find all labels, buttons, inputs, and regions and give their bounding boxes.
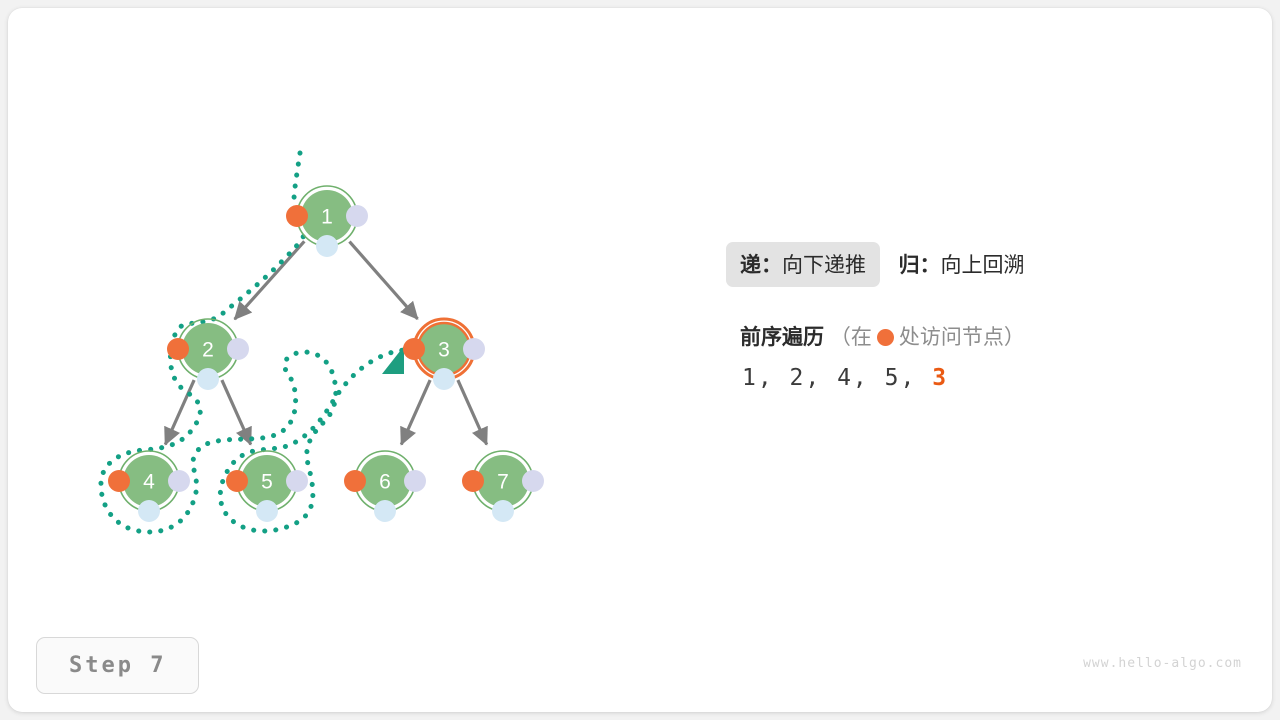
recurse-description: 递：向下递推 bbox=[726, 242, 880, 287]
tree-edge bbox=[165, 380, 194, 444]
node-bottom-dot bbox=[256, 500, 278, 522]
node-bottom-dot bbox=[433, 368, 455, 390]
node-value: 1 bbox=[321, 206, 333, 229]
traversal-order-heading: 前序遍历 （在处访问节点） bbox=[740, 321, 1246, 351]
sequence-visited: 1, 2, 4, 5, bbox=[742, 365, 916, 391]
return-description: 归：向上回溯 bbox=[884, 242, 1038, 287]
node-bottom-dot bbox=[374, 500, 396, 522]
node-bottom-dot bbox=[138, 500, 160, 522]
traversal-note-suffix: 处访问节点） bbox=[899, 326, 1025, 349]
node-right-dot bbox=[404, 470, 426, 492]
watermark: www.hello-algo.com bbox=[1083, 656, 1242, 671]
tree-edge bbox=[349, 242, 417, 319]
node-bottom-dot bbox=[316, 235, 338, 257]
traversal-order-title: 前序遍历 bbox=[740, 326, 824, 349]
node-visit-dot bbox=[167, 338, 189, 360]
tree-node-6[interactable]: 6 bbox=[344, 451, 426, 522]
node-right-dot bbox=[346, 205, 368, 227]
node-value: 5 bbox=[261, 471, 273, 494]
node-value: 2 bbox=[202, 339, 214, 362]
tree-edge bbox=[235, 241, 305, 319]
node-right-dot bbox=[168, 470, 190, 492]
return-text: 向上回溯 bbox=[940, 254, 1024, 277]
node-value: 3 bbox=[438, 339, 450, 362]
node-right-dot bbox=[463, 338, 485, 360]
node-bottom-dot bbox=[492, 500, 514, 522]
tree-node-2[interactable]: 2 bbox=[167, 319, 249, 390]
tree-edge bbox=[458, 380, 487, 444]
node-right-dot bbox=[286, 470, 308, 492]
slide-card: 1234567 递：向下递推 归：向上回溯 前序遍历 （在处访问节点） 1, 2… bbox=[8, 8, 1272, 712]
tree-node-5[interactable]: 5 bbox=[226, 451, 308, 522]
return-keyword: 归 bbox=[898, 254, 919, 277]
sequence-current: 3 bbox=[932, 365, 948, 391]
step-badge: Step 7 bbox=[36, 637, 199, 694]
recurse-keyword: 递 bbox=[740, 254, 761, 277]
node-visit-dot bbox=[226, 470, 248, 492]
node-visit-dot bbox=[108, 470, 130, 492]
tree-edge bbox=[401, 380, 430, 444]
tree-nodes: 1234567 bbox=[108, 186, 544, 522]
tree-node-4[interactable]: 4 bbox=[108, 451, 190, 522]
node-visit-dot bbox=[344, 470, 366, 492]
node-value: 7 bbox=[497, 471, 509, 494]
node-visit-dot bbox=[403, 338, 425, 360]
recurse-text: 向下递推 bbox=[782, 254, 866, 277]
visit-dot-icon bbox=[877, 329, 894, 346]
traversal-note-prefix: （在 bbox=[830, 326, 872, 349]
node-right-dot bbox=[227, 338, 249, 360]
tree-node-7[interactable]: 7 bbox=[462, 451, 544, 522]
illustration-stage: 1234567 递：向下递推 归：向上回溯 前序遍历 （在处访问节点） 1, 2… bbox=[8, 8, 1272, 712]
traversal-sequence: 1, 2, 4, 5, 3 bbox=[742, 365, 1246, 391]
node-visit-dot bbox=[462, 470, 484, 492]
tree-node-3[interactable]: 3 bbox=[403, 319, 485, 390]
explanation-panel: 递：向下递推 归：向上回溯 前序遍历 （在处访问节点） 1, 2, 4, 5, … bbox=[726, 232, 1246, 391]
node-bottom-dot bbox=[197, 368, 219, 390]
node-right-dot bbox=[522, 470, 544, 492]
return-separator: ： bbox=[919, 254, 940, 277]
node-value: 4 bbox=[143, 471, 155, 494]
node-value: 6 bbox=[379, 471, 391, 494]
recurse-separator: ： bbox=[761, 254, 782, 277]
node-visit-dot bbox=[286, 205, 308, 227]
tree-edge bbox=[222, 380, 251, 444]
